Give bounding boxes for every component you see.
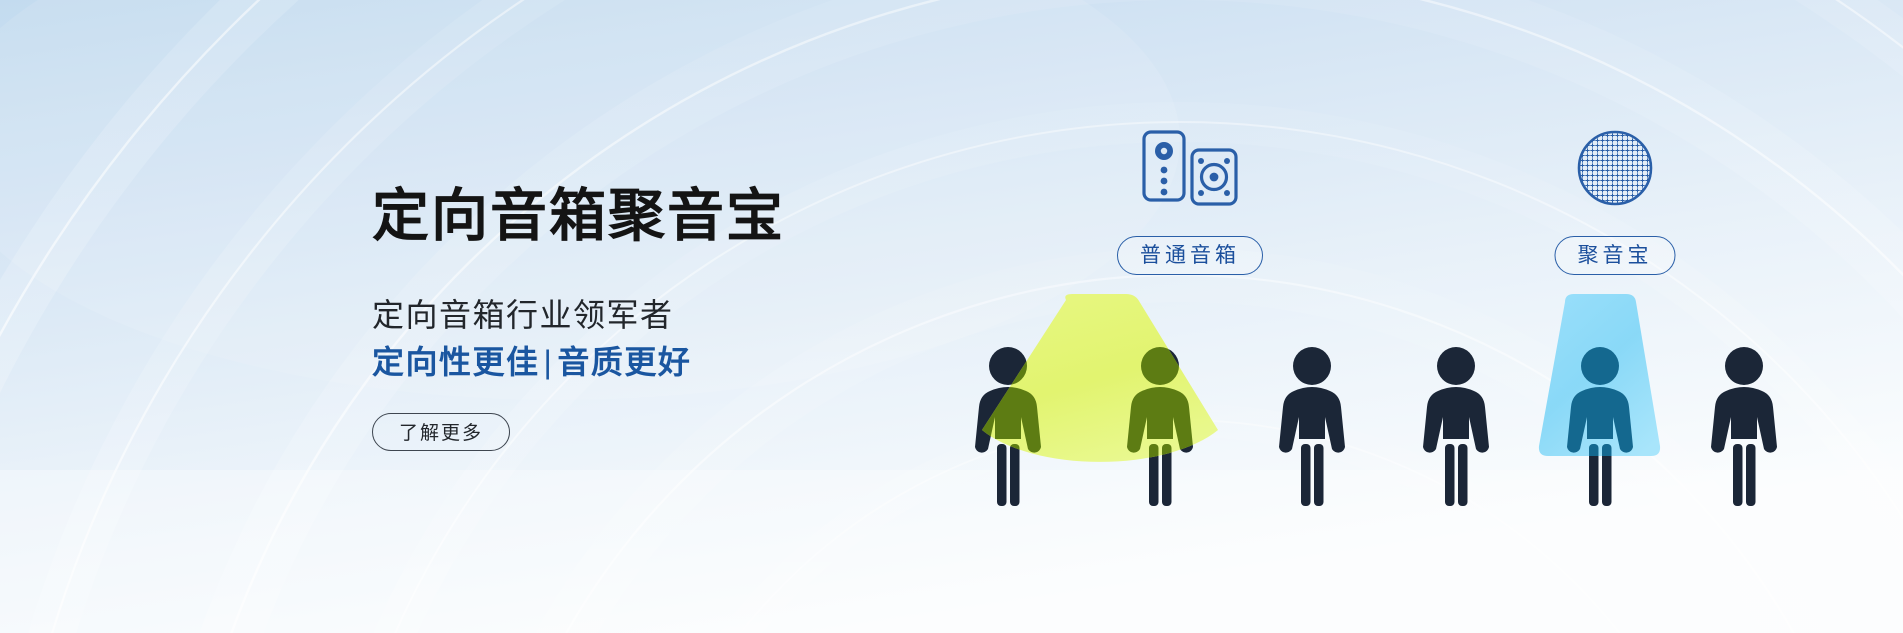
panel-directional-speaker: 聚音宝 [1390, 0, 1840, 633]
learn-more-button[interactable]: 了解更多 [372, 413, 510, 451]
wide-cone-beam-scene [960, 290, 1420, 590]
page-title: 定向音箱聚音宝 [372, 186, 932, 246]
transducer-array-circle-icon [1575, 128, 1655, 208]
label-directional-speaker: 聚音宝 [1555, 236, 1676, 275]
scene-ordinary [960, 290, 1420, 590]
speaker-boxes-icon [1136, 130, 1244, 208]
hero-copy: 定向音箱聚音宝 定向音箱行业领军者 定向性更佳|音质更好 了解更多 [372, 186, 932, 451]
subtitle-separator: | [540, 344, 558, 380]
transducer-array-icon-wrap [1390, 130, 1840, 208]
comparison-illustration: 普通音箱 [960, 0, 1903, 633]
subtitle-line-2: 定向性更佳|音质更好 [372, 341, 932, 383]
speaker-boxes-icon-wrap [960, 130, 1420, 208]
scene-directional [1390, 290, 1840, 590]
hero-banner: 定向音箱聚音宝 定向音箱行业领军者 定向性更佳|音质更好 了解更多 [0, 0, 1903, 633]
subtitle-claim-directivity: 定向性更佳 [372, 344, 540, 380]
panel-ordinary-speaker: 普通音箱 [960, 0, 1420, 633]
label-ordinary-speaker: 普通音箱 [1117, 236, 1263, 275]
narrow-beam-scene [1390, 290, 1840, 590]
subtitle-claim-sound-quality: 音质更好 [557, 344, 691, 380]
subtitle-line-1: 定向音箱行业领军者 [372, 294, 932, 336]
